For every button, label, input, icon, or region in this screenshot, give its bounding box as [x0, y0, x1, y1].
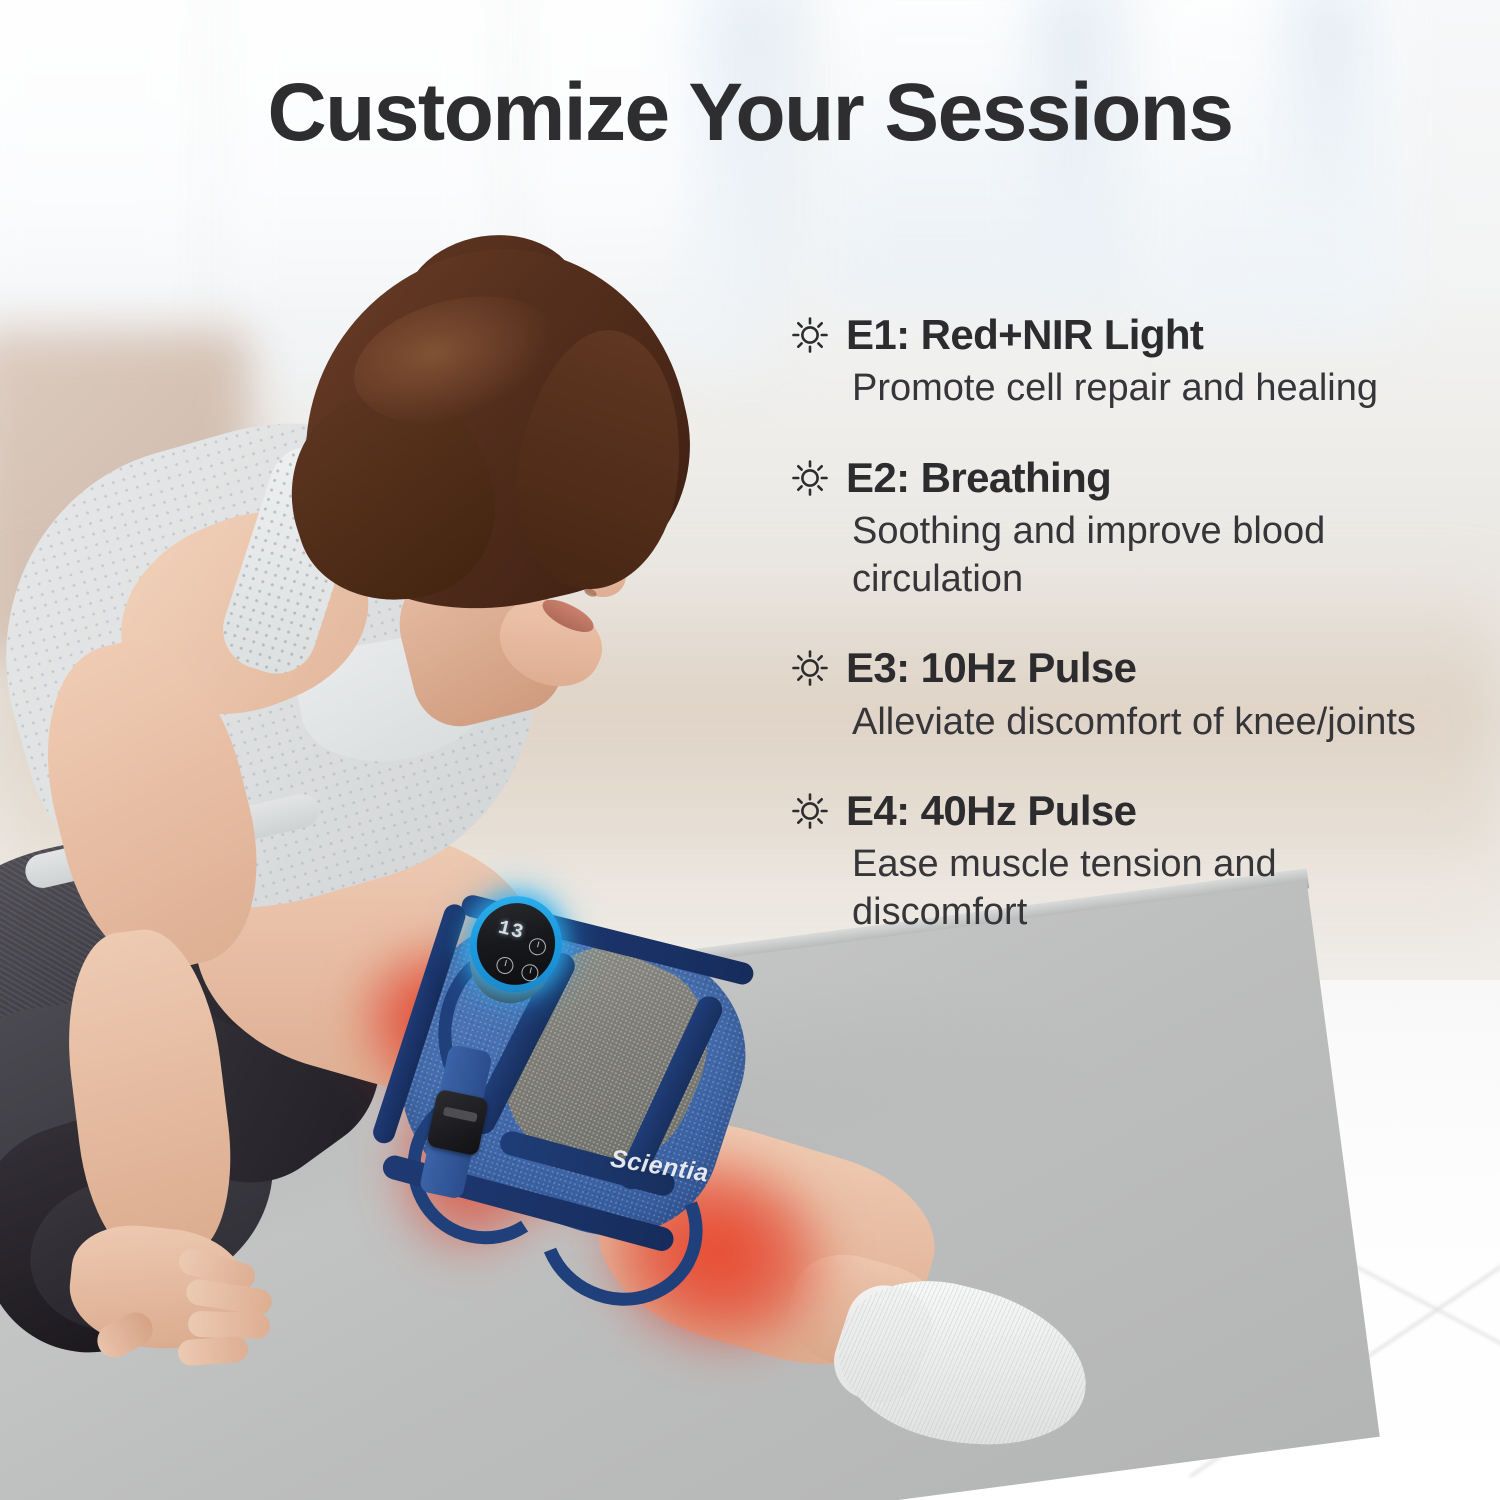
- feature-heading-row: E3: 10Hz Pulse: [790, 645, 1480, 690]
- sun-icon: [790, 791, 830, 831]
- feature-description: Alleviate discomfort of knee/joints: [852, 699, 1452, 747]
- feature-description: Promote cell repair and healing: [852, 365, 1452, 413]
- feature-item-e2: E2: Breathing Soothing and improve blood…: [790, 455, 1480, 603]
- feature-description: Soothing and improve blood circulation: [852, 508, 1452, 603]
- device-display-value: 13: [496, 917, 527, 946]
- model-photo: [0, 0, 900, 1500]
- feature-title: E2: Breathing: [846, 455, 1111, 500]
- feature-heading-row: E1: Red+NIR Light: [790, 312, 1480, 357]
- power-icon[interactable]: [527, 936, 548, 957]
- feature-item-e4: E4: 40Hz Pulse Ease muscle tension and d…: [790, 788, 1480, 936]
- feature-title: E1: Red+NIR Light: [846, 312, 1203, 357]
- mode-icon[interactable]: [495, 955, 516, 976]
- sun-icon: [790, 315, 830, 355]
- page-title: Customize Your Sessions: [0, 66, 1500, 160]
- feature-item-e3: E3: 10Hz Pulse Alleviate discomfort of k…: [790, 645, 1480, 746]
- sun-icon: [790, 458, 830, 498]
- feature-heading-row: E2: Breathing: [790, 455, 1480, 500]
- sun-icon: [790, 648, 830, 688]
- model-finger: [177, 1336, 249, 1367]
- feature-description: Ease muscle tension and discomfort: [852, 841, 1452, 936]
- model-finger: [188, 1311, 271, 1340]
- feature-title: E3: 10Hz Pulse: [846, 645, 1136, 690]
- feature-title: E4: 40Hz Pulse: [846, 788, 1136, 833]
- product-marketing-image: Scientia 13 Customize Your Sessions: [0, 0, 1500, 1500]
- feature-item-e1: E1: Red+NIR Light Promote cell repair an…: [790, 312, 1480, 413]
- feature-list: E1: Red+NIR Light Promote cell repair an…: [790, 312, 1480, 936]
- feature-heading-row: E4: 40Hz Pulse: [790, 788, 1480, 833]
